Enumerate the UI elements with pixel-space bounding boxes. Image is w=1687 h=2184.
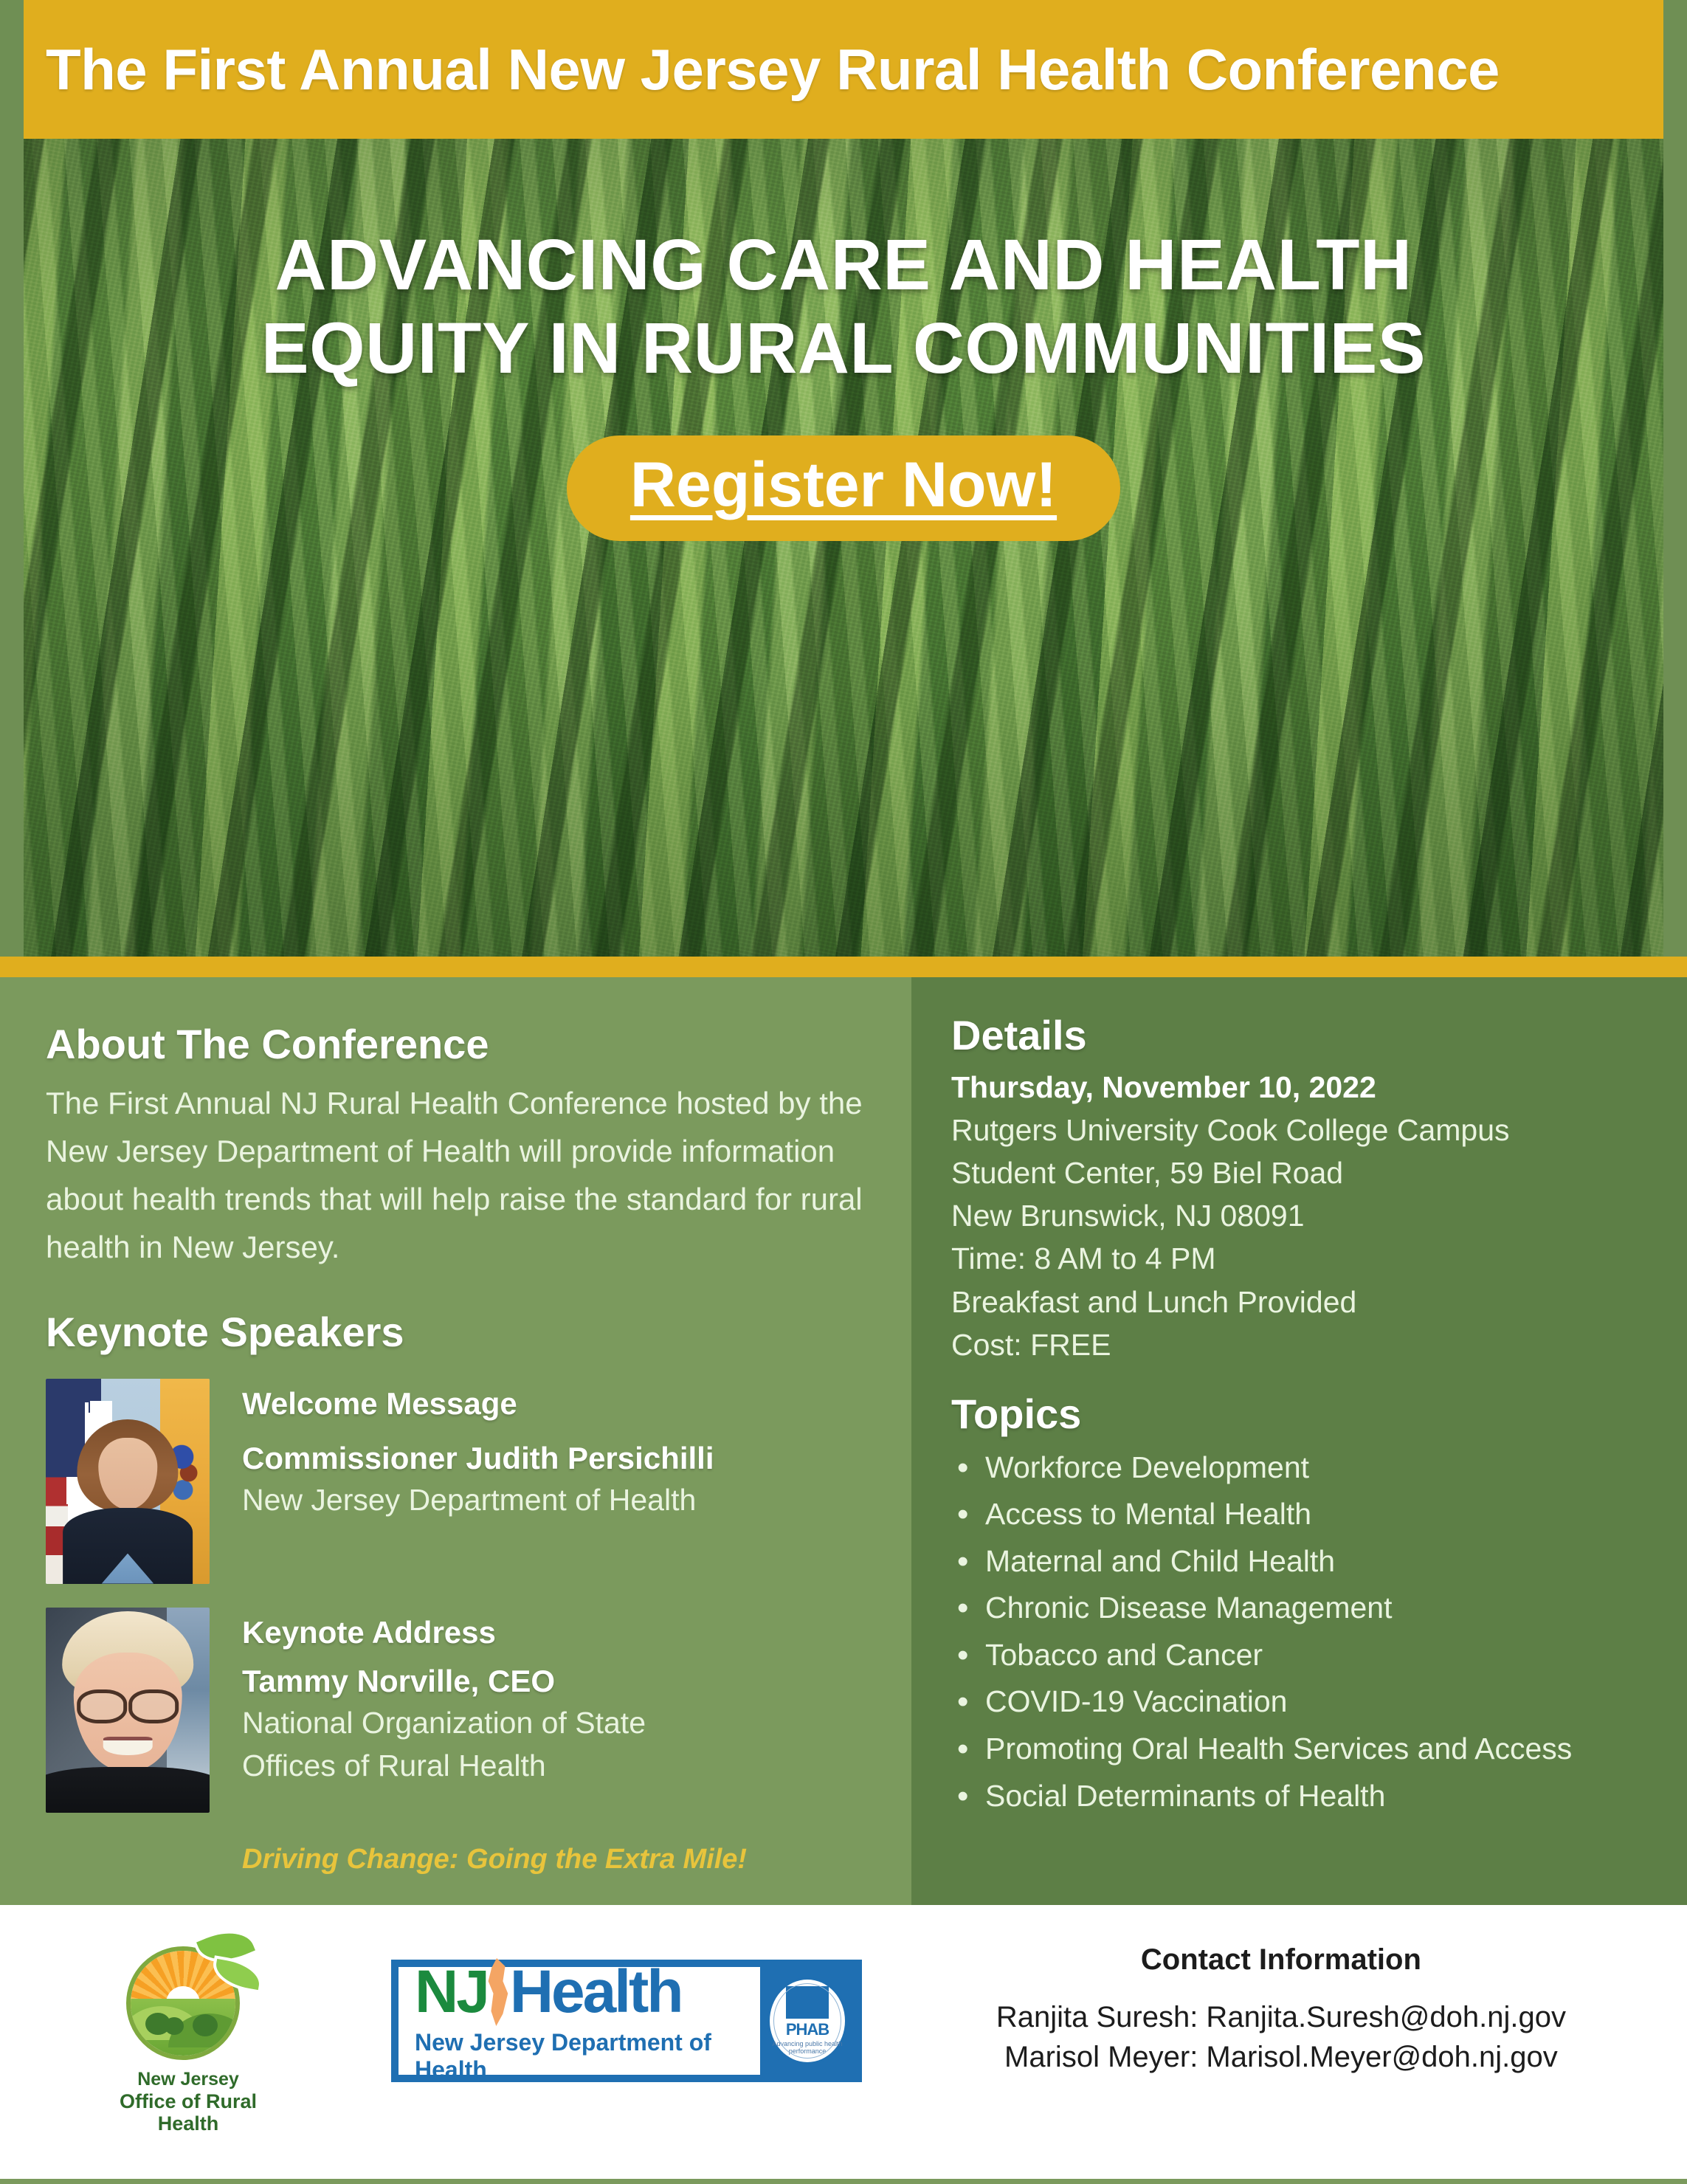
details-line: Time: 8 AM to 4 PM — [951, 1237, 1655, 1280]
portrait-body — [46, 1767, 210, 1812]
keynote-heading: Keynote Speakers — [46, 1309, 869, 1355]
tree-icon — [165, 2017, 184, 2035]
keynote-tagline: Driving Change: Going the Extra Mile! — [46, 1844, 869, 1875]
details-heading: Details — [951, 1013, 1655, 1058]
title-banner: The First Annual New Jersey Rural Health… — [24, 0, 1663, 139]
topic-item: Social Determinants of Health — [951, 1773, 1655, 1820]
nj-office-of-rural-health-logo: New Jersey Office of Rural Health — [96, 1927, 280, 2135]
topic-item: Chronic Disease Management — [951, 1585, 1655, 1632]
details-date: Thursday, November 10, 2022 — [951, 1066, 1655, 1109]
page-title: The First Annual New Jersey Rural Health… — [24, 36, 1500, 103]
hero-headline-line1: ADVANCING CARE AND HEALTH — [261, 224, 1426, 307]
nj-health-tagline: New Jersey Department of Health — [415, 2029, 760, 2084]
speaker-item: Keynote Address Tammy Norville, CEO Nati… — [46, 1608, 869, 1813]
right-column: Details Thursday, November 10, 2022 Rutg… — [911, 977, 1687, 1905]
speaker-photo-norville — [46, 1608, 210, 1813]
speaker-org-line2: Offices of Rural Health — [242, 1746, 646, 1785]
topic-item: Promoting Oral Health Services and Acces… — [951, 1726, 1655, 1773]
gold-divider-band — [0, 957, 1687, 977]
topics-list: Workforce Development Access to Mental H… — [951, 1444, 1655, 1819]
topic-item: Maternal and Child Health — [951, 1538, 1655, 1585]
hero-headline: ADVANCING CARE AND HEALTH EQUITY IN RURA… — [261, 224, 1426, 390]
register-wrapper: Register Now! — [567, 435, 1120, 541]
hero-section: ADVANCING CARE AND HEALTH EQUITY IN RURA… — [24, 139, 1663, 957]
orh-logo-line2: Office of Rural Health — [96, 2090, 280, 2136]
topic-item: COVID-19 Vaccination — [951, 1678, 1655, 1726]
details-line: Breakfast and Lunch Provided — [951, 1281, 1655, 1323]
about-heading: About The Conference — [46, 1022, 869, 1067]
footer-logos: New Jersey Office of Rural Health NJ Hea… — [0, 1905, 862, 2135]
contact-email-marisol[interactable]: Marisol Meyer: Marisol.Meyer@doh.nj.gov — [996, 2037, 1566, 2077]
register-now-button[interactable]: Register Now! — [567, 435, 1120, 541]
hero-headline-line2: EQUITY IN RURAL COMMUNITIES — [261, 307, 1426, 390]
topics-heading: Topics — [951, 1391, 1655, 1437]
nj-health-wordmark: NJ Health — [415, 1958, 760, 2026]
phab-accreditation-seal-icon: PHAB Advancing public health performance — [767, 1977, 847, 2064]
contact-email-ranjita[interactable]: Ranjita Suresh: Ranjita.Suresh@doh.nj.go… — [996, 1997, 1566, 2037]
speaker-item: Welcome Message Commissioner Judith Pers… — [46, 1379, 869, 1584]
speaker-photo-persichilli — [46, 1379, 210, 1584]
seal-ring — [773, 1983, 841, 2059]
about-body: The First Annual NJ Rural Health Confere… — [46, 1079, 869, 1271]
portrait-body — [63, 1508, 193, 1583]
nj-text: NJ — [415, 1964, 488, 2019]
speaker-name: Tammy Norville, CEO — [242, 1664, 646, 1699]
topic-item: Access to Mental Health — [951, 1491, 1655, 1538]
speaker-info: Keynote Address Tammy Norville, CEO Nati… — [210, 1608, 646, 1813]
health-text: Health — [510, 1964, 682, 2019]
portrait-subject — [77, 1419, 179, 1583]
left-column: About The Conference The First Annual NJ… — [0, 977, 911, 1905]
portrait-shirt — [102, 1554, 153, 1584]
register-button-label: Register Now! — [630, 452, 1057, 519]
flyer-page: The First Annual New Jersey Rural Health… — [0, 0, 1687, 2184]
speaker-info: Welcome Message Commissioner Judith Pers… — [210, 1379, 714, 1584]
speaker-role: Keynote Address — [242, 1615, 646, 1650]
details-line: Cost: FREE — [951, 1323, 1655, 1366]
phab-seal-area: PHAB Advancing public health performance — [760, 1967, 855, 2075]
speaker-role: Welcome Message — [242, 1386, 714, 1422]
contact-heading: Contact Information — [996, 1943, 1566, 1977]
details-list: Thursday, November 10, 2022 Rutgers Univ… — [951, 1066, 1655, 1367]
nj-health-logo: NJ Health New Jersey Department of Healt… — [391, 1960, 862, 2082]
topic-item: Workforce Development — [951, 1444, 1655, 1492]
hero-content: ADVANCING CARE AND HEALTH EQUITY IN RURA… — [24, 139, 1663, 957]
rural-health-emblem-icon — [116, 1927, 261, 2064]
contact-information: Contact Information Ranjita Suresh: Ranj… — [996, 1905, 1687, 2078]
main-content: About The Conference The First Annual NJ… — [0, 977, 1687, 1905]
speaker-name: Commissioner Judith Persichilli — [242, 1441, 714, 1476]
tree-icon — [193, 2014, 218, 2036]
portrait-smile — [103, 1737, 153, 1755]
speaker-org: New Jersey Department of Health — [242, 1481, 714, 1519]
orh-logo-line1: New Jersey — [96, 2069, 280, 2090]
topic-item: Tobacco and Cancer — [951, 1632, 1655, 1679]
contact-lines: Ranjita Suresh: Ranjita.Suresh@doh.nj.go… — [996, 1997, 1566, 2078]
eyeglasses-icon — [77, 1689, 179, 1716]
details-line: Student Center, 59 Biel Road — [951, 1151, 1655, 1194]
footer: New Jersey Office of Rural Health NJ Hea… — [0, 1905, 1687, 2184]
details-line: New Brunswick, NJ 08091 — [951, 1194, 1655, 1237]
nj-health-wordmark-area: NJ Health New Jersey Department of Healt… — [399, 1967, 760, 2075]
details-line: Rutgers University Cook College Campus — [951, 1109, 1655, 1151]
speaker-org-line1: National Organization of State — [242, 1704, 646, 1742]
